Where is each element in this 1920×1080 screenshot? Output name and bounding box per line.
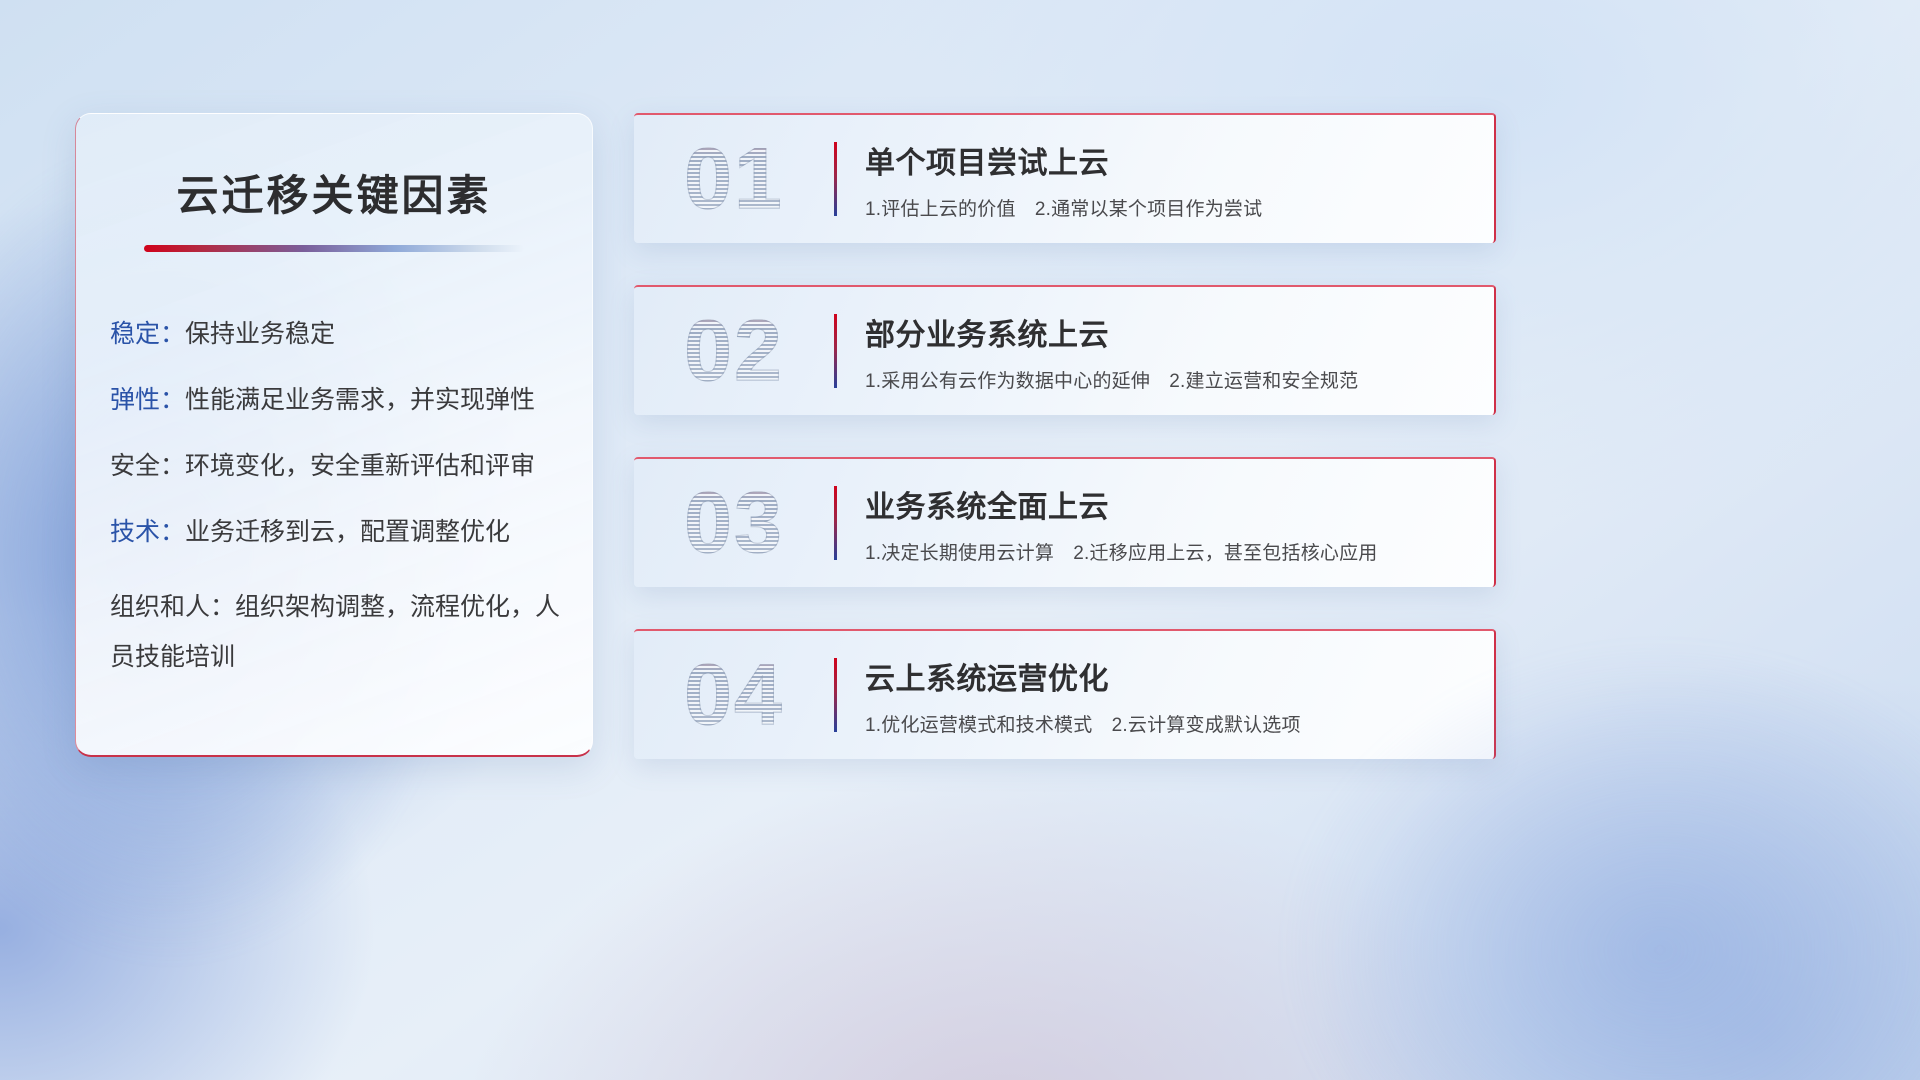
factor-text: 性能满足业务需求，并实现弹性: [185, 386, 535, 414]
step-subtitle: 1.采用公有云作为数据中心的延伸 2.建立运营和安全规范: [865, 366, 1470, 393]
step-card-03[interactable]: 03 业务系统全面上云 1.决定长期使用云计算 2.迁移应用上云，甚至包括核心应…: [634, 457, 1496, 587]
step-number-watermark: 02: [634, 308, 834, 394]
list-item: 组织和人：组织架构调整，流程优化，人员技能培训: [110, 582, 564, 682]
step-number-watermark: 01: [634, 136, 834, 222]
list-item: 安全：环境变化，安全重新评估和评审: [110, 450, 564, 482]
list-item: 稳定：保持业务稳定: [110, 318, 564, 350]
step-card-02[interactable]: 02 部分业务系统上云 1.采用公有云作为数据中心的延伸 2.建立运营和安全规范: [634, 285, 1496, 415]
step-body: 云上系统运营优化 1.优化运营模式和技术模式 2.云计算变成默认选项: [865, 654, 1494, 737]
factor-text: 保持业务稳定: [185, 320, 335, 348]
factor-label: 弹性：: [110, 386, 185, 414]
title-underline-rule: [144, 245, 524, 252]
step-number-watermark: 04: [634, 652, 834, 738]
step-body: 部分业务系统上云 1.采用公有云作为数据中心的延伸 2.建立运营和安全规范: [865, 310, 1494, 393]
step-card-01[interactable]: 01 单个项目尝试上云 1.评估上云的价值 2.通常以某个项目作为尝试: [634, 113, 1496, 243]
step-title: 部分业务系统上云: [865, 310, 1470, 354]
step-card-04[interactable]: 04 云上系统运营优化 1.优化运营模式和技术模式 2.云计算变成默认选项: [634, 629, 1496, 759]
step-title: 云上系统运营优化: [865, 654, 1470, 698]
page-title: 云迁移关键因素: [76, 162, 592, 223]
step-title: 业务系统全面上云: [865, 482, 1470, 526]
step-divider: [834, 486, 837, 560]
factor-label: 组织和人：: [110, 593, 235, 621]
slide-canvas: 云迁移关键因素 稳定：保持业务稳定 弹性：性能满足业务需求，并实现弹性 安全：环…: [0, 0, 1920, 1080]
step-subtitle: 1.评估上云的价值 2.通常以某个项目作为尝试: [865, 194, 1470, 221]
factor-label: 稳定：: [110, 320, 185, 348]
step-number-watermark: 03: [634, 480, 834, 566]
key-factors-list: 稳定：保持业务稳定 弹性：性能满足业务需求，并实现弹性 安全：环境变化，安全重新…: [76, 318, 592, 682]
factor-label: 技术：: [110, 518, 185, 546]
factor-label: 安全：: [110, 452, 185, 480]
step-title: 单个项目尝试上云: [865, 138, 1470, 182]
step-divider: [834, 314, 837, 388]
step-divider: [834, 658, 837, 732]
step-subtitle: 1.优化运营模式和技术模式 2.云计算变成默认选项: [865, 710, 1470, 737]
factor-text: 环境变化，安全重新评估和评审: [185, 452, 535, 480]
step-divider: [834, 142, 837, 216]
list-item: 弹性：性能满足业务需求，并实现弹性: [110, 384, 564, 416]
step-subtitle: 1.决定长期使用云计算 2.迁移应用上云，甚至包括核心应用: [865, 538, 1470, 565]
migration-steps-list: 01 单个项目尝试上云 1.评估上云的价值 2.通常以某个项目作为尝试 02 部…: [634, 113, 1496, 759]
step-body: 单个项目尝试上云 1.评估上云的价值 2.通常以某个项目作为尝试: [865, 138, 1494, 221]
key-factors-panel: 云迁移关键因素 稳定：保持业务稳定 弹性：性能满足业务需求，并实现弹性 安全：环…: [75, 113, 593, 757]
list-item: 技术：业务迁移到云，配置调整优化: [110, 516, 564, 548]
factor-text: 业务迁移到云，配置调整优化: [185, 518, 510, 546]
step-body: 业务系统全面上云 1.决定长期使用云计算 2.迁移应用上云，甚至包括核心应用: [865, 482, 1494, 565]
